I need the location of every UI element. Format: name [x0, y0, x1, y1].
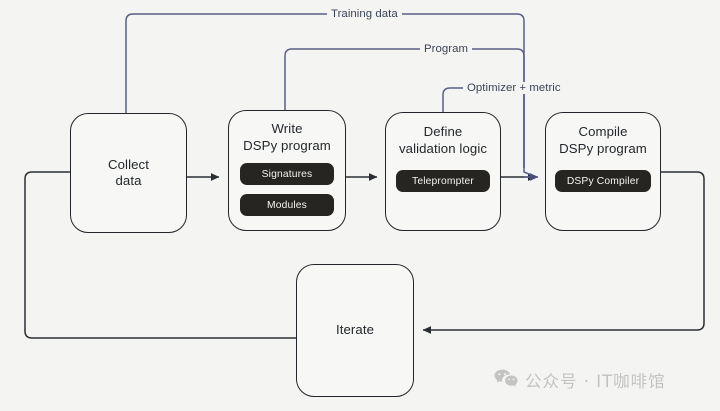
node-define-validation-logic-title: Define validation logic	[399, 124, 487, 157]
wechat-icon	[494, 369, 518, 392]
chip-signatures[interactable]: Signatures	[240, 163, 334, 185]
node-compile-dspy-program-title: Compile DSPy program	[559, 124, 647, 157]
node-write-dspy-program-title: Write DSPy program	[243, 121, 331, 154]
chip-teleprompter[interactable]: Teleprompter	[396, 170, 490, 192]
watermark-text: 公众号 · IT咖啡馆	[525, 368, 666, 392]
edge-label-optimizer-metric: Optimizer + metric	[463, 82, 565, 94]
node-collect-data[interactable]: Collect data	[70, 113, 187, 233]
node-collect-data-title: Collect data	[108, 157, 149, 190]
diagram-canvas: Collect data Write DSPy program Signatur…	[0, 0, 720, 411]
edge-label-program: Program	[420, 43, 472, 55]
watermark: 公众号 · IT咖啡馆	[494, 368, 666, 392]
chip-dspy-compiler[interactable]: DSPy Compiler	[555, 170, 651, 192]
chip-modules[interactable]: Modules	[240, 194, 334, 216]
node-write-dspy-program[interactable]: Write DSPy program Signatures Modules	[228, 110, 346, 231]
node-iterate-title: Iterate	[336, 322, 374, 339]
node-compile-dspy-program[interactable]: Compile DSPy program DSPy Compiler	[545, 112, 661, 231]
edge-label-training-data: Training data	[327, 8, 402, 20]
node-define-validation-logic[interactable]: Define validation logic Teleprompter	[385, 112, 501, 231]
node-iterate[interactable]: Iterate	[296, 264, 414, 397]
